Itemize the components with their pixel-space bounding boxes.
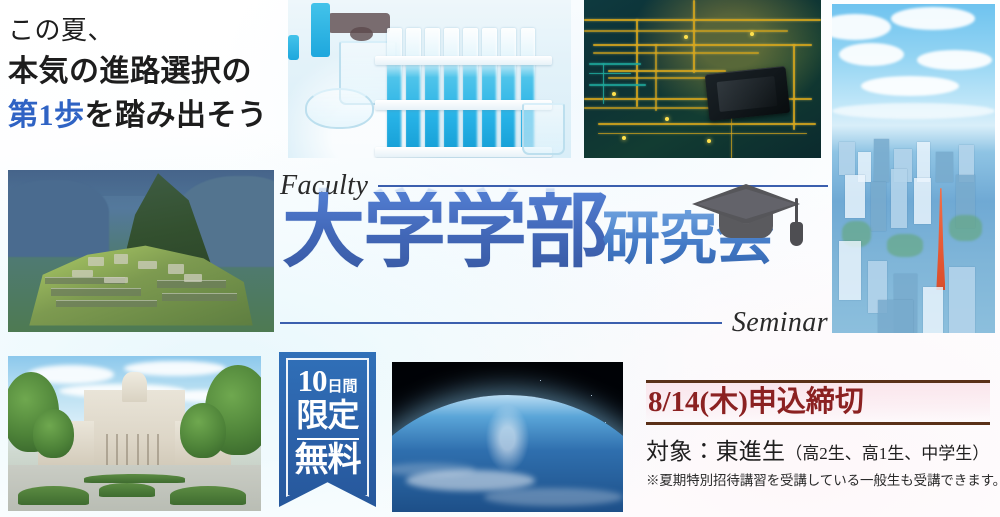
diet-building-main [84,390,185,474]
tokyo-cityscape-photo [832,4,995,333]
national-diet-building-photo [8,356,261,511]
machu-picchu-photo [8,170,274,332]
info-rule-bottom [646,422,990,425]
free-ribbon-badge: 10 日間 限定 無料 [279,352,376,507]
tokyo-tower-landmark [936,188,945,290]
title-main-kanji: 大学学部 [282,192,606,272]
circuit-board-photo [584,0,821,158]
application-deadline: 8/14(木)申込締切 [648,386,990,418]
ribbon-days-unit: 日間 [327,380,357,395]
ribbon-limited-label: 限定 [296,399,358,433]
ribbon-days-number: 10 [297,365,326,396]
title-lockup: Faculty 大学学部 研究会 Seminar [276,166,824,341]
headline-line-2: 本気の進路選択の [8,52,288,92]
earth-from-space-photo [392,362,623,512]
target-audience: 対象：東進生（高2生、高1生、中学生） [646,432,990,466]
eligibility-note: ※夏期特別招待講習を受講している一般生も受講できます。 [646,469,990,489]
seminar-row: Seminar [280,307,828,339]
graduation-cap-icon [692,178,808,260]
title-rule-bottom [280,322,722,324]
title-footer: Seminar [732,307,828,339]
headline-line-1: この夏、 [8,14,288,48]
target-audience-detail: （高2生、高1生、中学生） [785,444,989,463]
ribbon-duration: 10 日間 [297,365,357,396]
ribbon-free-label: 無料 [295,443,361,479]
ribbon-divider [297,438,359,440]
headline-copy: この夏、 本気の進路選択の 第1歩を踏み出そう [8,14,288,136]
circuit-chip [705,65,790,121]
target-audience-main: 対象：東進生 [646,439,785,464]
headline-line-3-rest: を踏み出そう [85,99,268,132]
laboratory-test-tubes-photo [288,0,571,158]
headline-line-3: 第1歩を踏み出そう [8,96,288,136]
headline-accent: 第1歩 [8,99,85,132]
seminar-banner: この夏、 本気の進路選択の 第1歩を踏み出そう Faculty 大学学部 研究会… [0,0,1000,517]
info-block: 8/14(木)申込締切 対象：東進生（高2生、高1生、中学生） ※夏期特別招待講… [646,380,990,489]
info-date-highlight: 8/14(木)申込締切 [646,383,990,422]
ribbon-content: 10 日間 限定 無料 [279,352,376,507]
